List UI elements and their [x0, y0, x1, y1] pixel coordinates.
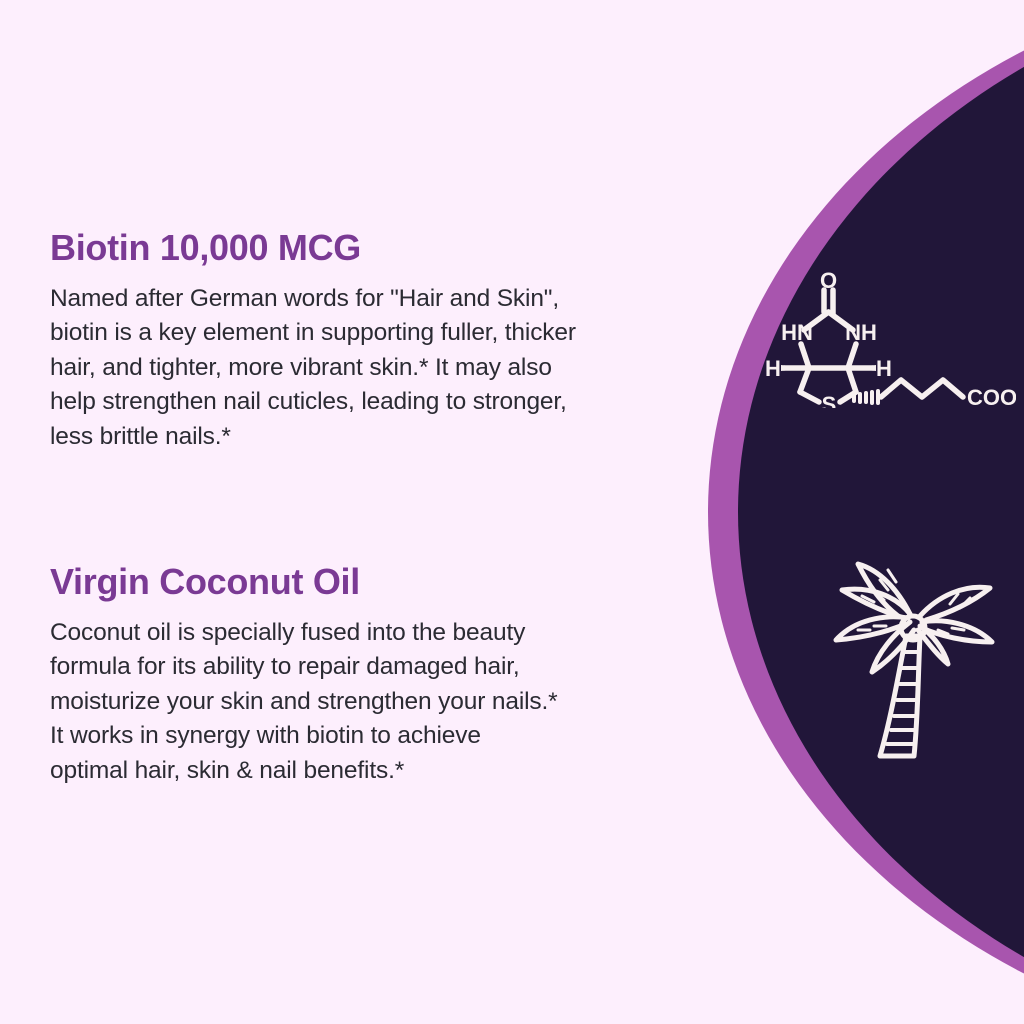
section-biotin-heading: Biotin 10,000 MCG — [50, 228, 685, 268]
purple-accent-arc — [708, 0, 1024, 1024]
body-line: formula for its ability to repair damage… — [50, 650, 685, 685]
molecule-label-hydrogen-right: H — [876, 356, 892, 381]
section-biotin-body: Named after German words for "Hair and S… — [50, 282, 685, 455]
section-coconut: Virgin Coconut Oil Coconut oil is specia… — [50, 562, 685, 788]
body-line: hair, and tighter, more vibrant skin.* I… — [50, 351, 685, 386]
body-line: optimal hair, skin & nail benefits.* — [50, 754, 685, 789]
molecule-label-nitrogen-right: NH — [845, 320, 877, 345]
body-line: less brittle nails.* — [50, 420, 685, 455]
molecule-label-carboxyl: COOH — [967, 385, 1016, 408]
product-benefits-infographic: Biotin 10,000 MCG Named after German wor… — [0, 0, 1024, 1024]
body-line: help strengthen nail cuticles, leading t… — [50, 385, 685, 420]
content-column: Biotin 10,000 MCG Named after German wor… — [50, 0, 690, 1024]
dark-panel-arc — [738, 0, 1024, 1024]
molecule-label-oxygen: O — [820, 268, 837, 293]
section-biotin: Biotin 10,000 MCG Named after German wor… — [50, 228, 685, 454]
body-line: It works in synergy with biotin to achie… — [50, 719, 685, 754]
body-line: moisturize your skin and strengthen your… — [50, 685, 685, 720]
palm-tree-icon — [818, 556, 1010, 768]
biotin-molecule-icon: O HN NH H H S COOH — [764, 268, 1016, 408]
body-line: Coconut oil is specially fused into the … — [50, 616, 685, 651]
section-coconut-body: Coconut oil is specially fused into the … — [50, 616, 685, 789]
molecule-label-hydrogen-left: H — [765, 356, 781, 381]
section-coconut-heading: Virgin Coconut Oil — [50, 562, 685, 602]
molecule-label-sulfur: S — [822, 392, 837, 408]
molecule-label-nitrogen-left: HN — [781, 320, 813, 345]
body-line: biotin is a key element in supporting fu… — [50, 316, 685, 351]
body-line: Named after German words for "Hair and S… — [50, 282, 685, 317]
